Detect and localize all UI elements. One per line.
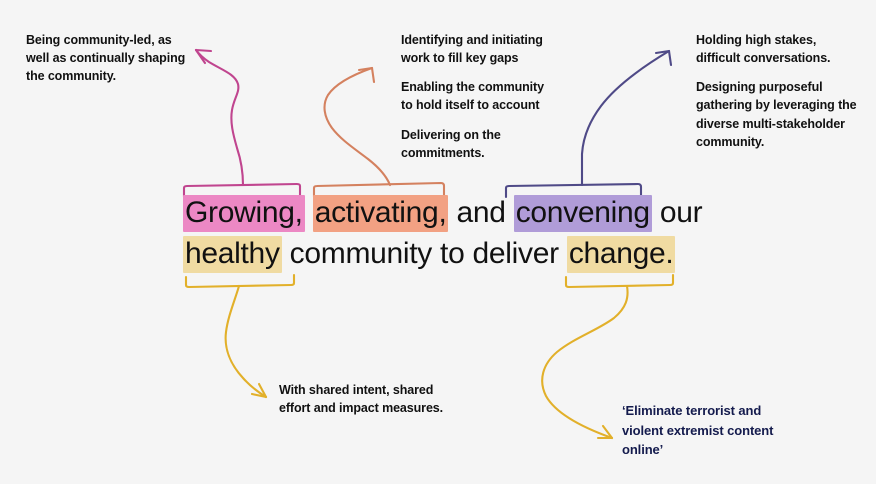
note-bottom-left-para-1: With shared intent, shared effort and im… — [279, 381, 459, 417]
headline-our: our — [652, 196, 703, 229]
highlight-convening: convening — [514, 195, 652, 232]
note-bottom-right: ‘Eliminate terrorist and violent extremi… — [622, 401, 797, 460]
highlight-healthy: healthy — [183, 236, 282, 273]
headline-and: and — [448, 196, 513, 229]
note-top-right: Holding high stakes, difficult conversat… — [696, 31, 861, 151]
headline-space-1 — [305, 196, 313, 229]
note-top-middle-para-3: Delivering on the commitments. — [401, 126, 553, 162]
note-top-left: Being community-led, as well as continua… — [26, 31, 198, 85]
headline-community-to-deliver: community to deliver — [282, 237, 567, 270]
highlight-growing: Growing, — [183, 195, 305, 232]
pink-bracket-arrow — [184, 50, 300, 197]
main-statement: Growing, activating, and convening our h… — [183, 192, 713, 274]
note-top-left-para-1: Being community-led, as well as continua… — [26, 31, 198, 85]
highlight-activating: activating, — [313, 195, 449, 232]
note-top-middle: Identifying and initiating work to fill … — [401, 31, 553, 162]
note-top-middle-para-1: Identifying and initiating work to fill … — [401, 31, 553, 67]
diagram-canvas: Growing, activating, and convening our h… — [0, 0, 876, 484]
note-top-middle-para-2: Enabling the community to hold itself to… — [401, 78, 553, 114]
note-bottom-left: With shared intent, shared effort and im… — [279, 381, 459, 417]
note-top-right-para-1: Holding high stakes, difficult conversat… — [696, 31, 861, 67]
yellow-bracket-arrow-left — [186, 275, 294, 397]
highlight-change: change. — [567, 236, 676, 273]
note-top-right-para-2: Designing purposeful gathering by levera… — [696, 78, 861, 151]
note-bottom-right-para-1: ‘Eliminate terrorist and violent extremi… — [622, 401, 797, 460]
